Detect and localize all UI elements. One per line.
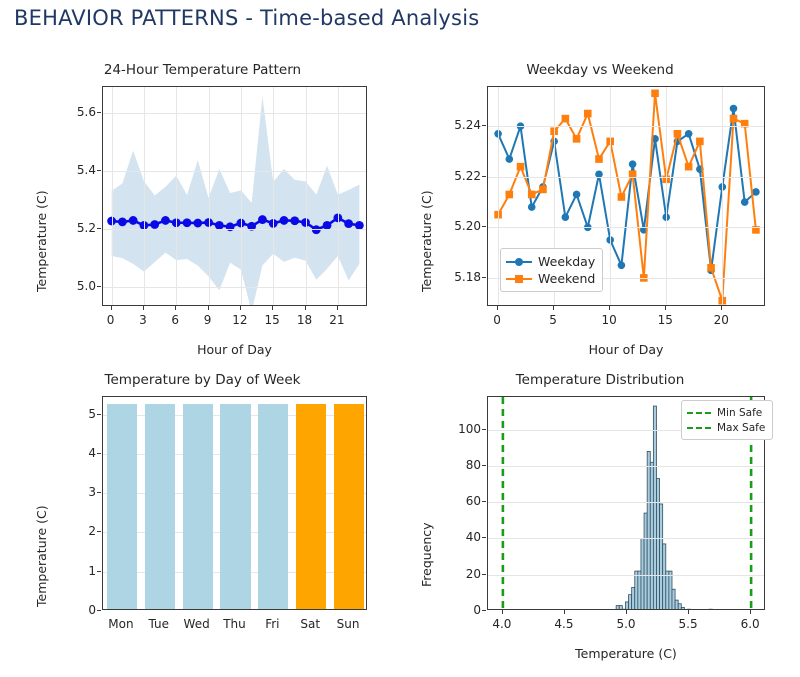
- histogram-bar: [666, 571, 669, 610]
- chart-title-hourly-pattern: 24-Hour Temperature Pattern: [30, 62, 375, 78]
- y-tickmark: [482, 176, 486, 177]
- x-tickmark: [272, 306, 273, 310]
- data-point: [752, 188, 760, 196]
- y-tickmark: [482, 501, 486, 502]
- x-tickmark: [240, 306, 241, 310]
- y-axis-label-weekday: Temperature (C): [419, 190, 434, 292]
- y-tick-label: 5.2: [56, 221, 96, 235]
- gridline-vertical: [273, 87, 274, 305]
- x-tick-label: 3: [139, 313, 147, 327]
- x-tick-label: Mon: [108, 617, 133, 631]
- y-axis-label-dayofweek: Temperature (C): [34, 505, 49, 607]
- gridline-horizontal: [488, 538, 764, 539]
- x-tick-label: 5.5: [679, 617, 698, 631]
- x-tickmark: [143, 306, 144, 310]
- bar-tue[interactable]: [145, 404, 175, 609]
- min-safe-dash-icon: [687, 407, 711, 419]
- y-axis-label-distribution: Frequency: [419, 522, 434, 587]
- y-tickmark: [482, 125, 486, 126]
- x-tick-label: 5.0: [616, 617, 635, 631]
- gridline-horizontal: [488, 177, 764, 178]
- x-tick-label: 0: [107, 313, 115, 327]
- data-point: [573, 135, 581, 143]
- x-tickmark: [111, 306, 112, 310]
- x-tickmark: [175, 306, 176, 310]
- confidence-band: [112, 96, 360, 306]
- y-tickmark: [97, 228, 101, 229]
- gridline-horizontal: [103, 229, 366, 230]
- y-tick-label: 5.24: [441, 118, 481, 132]
- data-point: [562, 213, 570, 221]
- x-tick-label: 18: [297, 313, 312, 327]
- data-point: [618, 193, 626, 201]
- legend-label-max-safe: Max Safe: [717, 422, 765, 434]
- data-point: [730, 105, 738, 113]
- data-point: [290, 216, 299, 225]
- bar-sat[interactable]: [296, 404, 326, 609]
- y-tickmark: [97, 414, 101, 415]
- x-tickmark: [750, 610, 751, 614]
- y-tick-label: 40: [441, 530, 481, 544]
- histogram-bar: [650, 462, 653, 610]
- x-tick-label: 4.5: [554, 617, 573, 631]
- data-point: [584, 110, 592, 118]
- x-tick-label: 6: [171, 313, 179, 327]
- histogram-bar: [675, 600, 678, 610]
- x-tick-label: 10: [602, 313, 617, 327]
- histogram-bar: [647, 451, 650, 610]
- y-tick-label: 0: [441, 603, 481, 617]
- plot-area-day-of-week: [102, 396, 367, 610]
- y-tick-label: 2: [56, 524, 96, 538]
- gridline-vertical: [176, 87, 177, 305]
- y-tickmark: [97, 453, 101, 454]
- histogram-bar: [669, 571, 672, 610]
- data-point: [573, 191, 581, 199]
- x-tickmark: [553, 306, 554, 310]
- x-tick-label: Fri: [265, 617, 279, 631]
- legend-label-min-safe: Min Safe: [717, 407, 762, 419]
- x-tick-label: 20: [714, 313, 729, 327]
- page-title: BEHAVIOR PATTERNS - Time-based Analysis: [14, 6, 479, 30]
- y-tick-label: 80: [441, 458, 481, 472]
- legend-label-weekend: Weekend: [538, 271, 595, 286]
- data-point: [517, 163, 525, 171]
- data-point: [707, 264, 715, 272]
- y-tickmark: [482, 610, 486, 611]
- panel-day-of-week: Temperature by Day of Week Temperature (…: [30, 372, 375, 662]
- x-tick-label: Sat: [300, 617, 320, 631]
- x-axis-label-hourly: Hour of Day: [102, 342, 367, 357]
- x-tick-label: 5: [549, 313, 557, 327]
- y-tick-label: 60: [441, 494, 481, 508]
- gridline-horizontal: [488, 466, 764, 467]
- y-tickmark: [97, 610, 101, 611]
- y-tick-label: 5.20: [441, 219, 481, 233]
- chart-title-weekday-weekend: Weekday vs Weekend: [415, 62, 785, 78]
- y-tickmark: [97, 170, 101, 171]
- x-tick-label: 21: [329, 313, 344, 327]
- legend-item-weekend[interactable]: Weekend: [506, 270, 595, 287]
- x-tick-label: 0: [493, 313, 501, 327]
- y-tick-label: 3: [56, 485, 96, 499]
- panel-temperature-distribution: Temperature Distribution Frequency Min S…: [415, 372, 785, 662]
- weekend-line-marker-icon: [506, 273, 532, 285]
- x-tick-label: 12: [232, 313, 247, 327]
- histogram-bar: [635, 571, 638, 610]
- y-tickmark: [97, 531, 101, 532]
- legend-item-min-safe[interactable]: Min Safe: [687, 405, 765, 420]
- y-tickmark: [482, 537, 486, 538]
- gridline-vertical: [666, 87, 667, 305]
- hourly-pattern-series: [103, 87, 367, 306]
- legend-weekday-weekend[interactable]: Weekday Weekend: [500, 248, 603, 292]
- weekday-line: [498, 108, 756, 270]
- bar-fri[interactable]: [258, 404, 288, 609]
- data-point: [506, 155, 514, 163]
- chart-title-distribution: Temperature Distribution: [415, 372, 785, 388]
- legend-item-weekday[interactable]: Weekday: [506, 253, 595, 270]
- data-point: [280, 216, 289, 225]
- data-point: [629, 160, 637, 168]
- data-point: [118, 217, 127, 226]
- x-tick-label: 4.0: [492, 617, 511, 631]
- histogram-bar: [638, 571, 641, 610]
- y-tick-label: 5.4: [56, 163, 96, 177]
- y-tick-label: 1: [56, 564, 96, 578]
- data-point: [595, 155, 603, 163]
- gridline-vertical: [498, 87, 499, 305]
- data-point: [226, 222, 235, 231]
- gridline-vertical: [144, 87, 145, 305]
- histogram-bar: [629, 595, 632, 610]
- histogram-bar: [678, 604, 681, 610]
- gridline-horizontal: [103, 171, 366, 172]
- x-tickmark: [626, 610, 627, 614]
- x-tickmark: [688, 610, 689, 614]
- data-point: [674, 130, 682, 138]
- panel-weekday-weekend: Weekday vs Weekend Temperature (C) Weekd…: [415, 62, 785, 357]
- gridline-vertical: [241, 87, 242, 305]
- histogram-bar: [672, 589, 675, 610]
- gridline-vertical: [338, 87, 339, 305]
- data-point: [528, 191, 536, 199]
- data-point: [528, 203, 536, 211]
- histogram-bar: [660, 504, 663, 610]
- max-safe-dash-icon: [687, 422, 711, 434]
- y-tick-label: 5.22: [441, 169, 481, 183]
- legend-safety-limits[interactable]: Min Safe Max Safe: [681, 400, 773, 440]
- y-tickmark: [97, 571, 101, 572]
- y-tick-label: 5.0: [56, 279, 96, 293]
- weekday-line-marker-icon: [506, 256, 532, 268]
- data-point: [651, 90, 659, 98]
- x-tick-label: Wed: [184, 617, 210, 631]
- histogram-bar: [663, 544, 666, 610]
- x-tick-label: Sun: [337, 617, 360, 631]
- data-point: [730, 115, 738, 123]
- x-tick-label: 15: [265, 313, 280, 327]
- legend-item-max-safe[interactable]: Max Safe: [687, 420, 765, 435]
- x-tickmark: [502, 610, 503, 614]
- y-tick-label: 5: [56, 407, 96, 421]
- bar-mon[interactable]: [107, 404, 137, 609]
- data-point: [618, 261, 626, 269]
- data-point: [150, 220, 159, 229]
- x-tickmark: [337, 306, 338, 310]
- y-tickmark: [482, 226, 486, 227]
- gridline-horizontal: [488, 502, 764, 503]
- y-tickmark: [482, 277, 486, 278]
- x-tickmark: [721, 306, 722, 310]
- gridline-horizontal: [103, 113, 366, 114]
- bar-thu[interactable]: [220, 404, 250, 609]
- gridline-vertical: [209, 87, 210, 305]
- x-tick-label: 9: [204, 313, 212, 327]
- data-point: [539, 186, 547, 194]
- chart-title-day-of-week: Temperature by Day of Week: [30, 372, 375, 388]
- x-axis-label-distribution: Temperature (C): [487, 646, 765, 661]
- y-axis-label-hourly: Temperature (C): [34, 190, 49, 292]
- y-tick-label: 0: [56, 603, 96, 617]
- plot-area-hourly-pattern: [102, 86, 367, 306]
- data-point: [685, 130, 693, 138]
- y-tick-label: 5.6: [56, 105, 96, 119]
- y-tickmark: [97, 492, 101, 493]
- data-point: [344, 219, 353, 228]
- x-tick-label: 15: [658, 313, 673, 327]
- data-point: [183, 218, 192, 227]
- gridline-horizontal: [488, 227, 764, 228]
- y-tick-label: 5.18: [441, 270, 481, 284]
- y-tick-label: 4: [56, 446, 96, 460]
- y-tickmark: [482, 429, 486, 430]
- data-point: [562, 115, 570, 123]
- panel-hourly-pattern: 24-Hour Temperature Pattern Temperature …: [30, 62, 375, 357]
- y-tick-label: 100: [441, 422, 481, 436]
- gridline-vertical: [112, 87, 113, 305]
- y-tickmark: [97, 286, 101, 287]
- x-tickmark: [564, 610, 565, 614]
- data-point: [685, 163, 693, 171]
- data-point: [696, 138, 704, 146]
- histogram-bar: [653, 406, 656, 610]
- histogram-bar: [622, 609, 625, 610]
- x-tickmark: [305, 306, 306, 310]
- data-point: [129, 216, 138, 225]
- gridline-vertical: [306, 87, 307, 305]
- x-tick-label: Thu: [223, 617, 246, 631]
- x-tickmark: [609, 306, 610, 310]
- y-tickmark: [97, 112, 101, 113]
- y-tickmark: [482, 465, 486, 466]
- x-axis-label-weekday: Hour of Day: [487, 342, 765, 357]
- x-tick-label: Tue: [149, 617, 170, 631]
- histogram-bar: [681, 607, 684, 610]
- y-tick-label: 20: [441, 567, 481, 581]
- legend-label-weekday: Weekday: [538, 254, 595, 269]
- y-tickmark: [482, 574, 486, 575]
- gridline-vertical: [722, 87, 723, 305]
- gridline-horizontal: [488, 575, 764, 576]
- histogram-bar: [656, 479, 659, 610]
- x-tickmark: [497, 306, 498, 310]
- data-point: [161, 216, 170, 225]
- bar-sun[interactable]: [334, 404, 364, 609]
- x-tick-label: 6.0: [741, 617, 760, 631]
- bar-wed[interactable]: [183, 404, 213, 609]
- x-tickmark: [665, 306, 666, 310]
- x-tickmark: [208, 306, 209, 310]
- gridline-vertical: [610, 87, 611, 305]
- histogram-bar: [632, 587, 635, 610]
- gridline-horizontal: [103, 287, 366, 288]
- histogram-bar: [619, 606, 622, 610]
- data-point: [741, 198, 749, 206]
- gridline-horizontal: [488, 126, 764, 127]
- histogram-bar: [625, 602, 628, 610]
- dashboard: BEHAVIOR PATTERNS - Time-based Analysis …: [0, 0, 800, 677]
- data-point: [258, 215, 267, 224]
- data-point: [506, 191, 514, 199]
- histogram-bar: [709, 609, 712, 610]
- data-point: [193, 219, 202, 228]
- histogram-bar: [644, 513, 647, 610]
- histogram-bar: [616, 606, 619, 610]
